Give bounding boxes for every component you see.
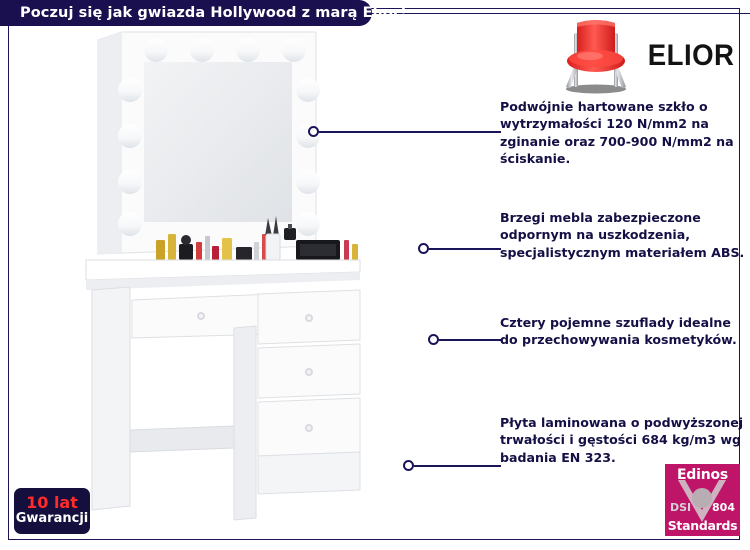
edinos-certificate-badge: Edinos DSI 804 Standards bbox=[665, 464, 740, 536]
product-image bbox=[60, 28, 460, 523]
callout-text: Płyta laminowana o podwyższonej trwałośc… bbox=[500, 414, 748, 466]
callout-leader-line bbox=[319, 131, 501, 133]
callout-text: Brzegi mebla zabezpieczone odpornym na u… bbox=[500, 209, 748, 261]
callout-leader-line bbox=[429, 248, 501, 250]
warranty-badge: 10 lat Gwarancji bbox=[14, 488, 90, 534]
header-banner: Poczuj się jak gwiazda Hollywood z marą … bbox=[0, 0, 372, 26]
banner-title: Poczuj się jak gwiazda Hollywood z marą … bbox=[0, 5, 407, 21]
edinos-number: 804 bbox=[712, 501, 735, 514]
red-chair-icon bbox=[560, 17, 632, 95]
callout-marker bbox=[403, 460, 414, 471]
brand-wordmark: ELIOR bbox=[648, 39, 735, 73]
callout-marker bbox=[308, 126, 319, 137]
callout-text: Podwójnie hartowane szkło o wytrzymałośc… bbox=[500, 98, 748, 168]
callout-marker bbox=[428, 334, 439, 345]
banner-rule bbox=[372, 13, 750, 15]
warranty-years: 10 lat bbox=[26, 495, 78, 511]
callout-leader-line bbox=[439, 339, 501, 341]
edinos-dsi-code: DSI bbox=[670, 501, 691, 514]
infographic-page: Poczuj się jak gwiazda Hollywood z marą … bbox=[0, 0, 750, 550]
edinos-standards: Standards bbox=[665, 518, 740, 533]
callout-marker bbox=[418, 243, 429, 254]
warranty-label: Gwarancji bbox=[16, 512, 89, 526]
callout-text: Cztery pojemne szuflady idealne do przec… bbox=[500, 314, 748, 349]
brand-logo: ELIOR bbox=[548, 14, 738, 98]
callout-leader-line bbox=[414, 465, 501, 467]
